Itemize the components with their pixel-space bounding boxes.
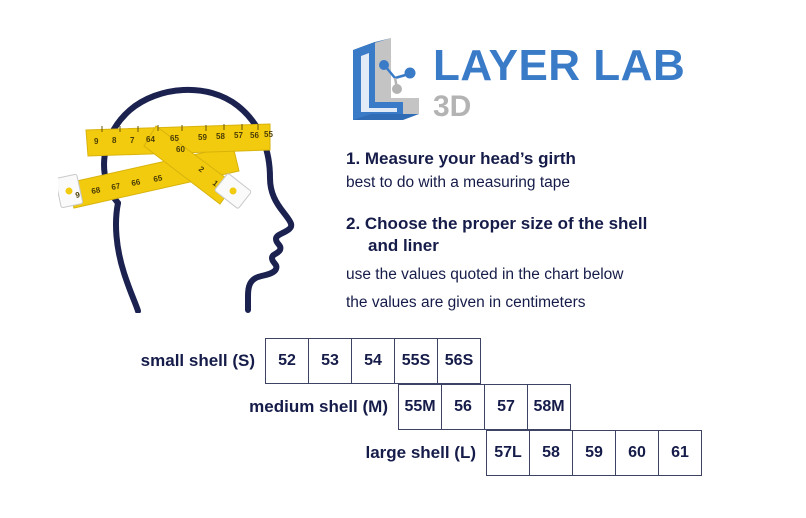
svg-text:58: 58 [216,132,225,141]
svg-text:59: 59 [198,133,207,142]
step-2-heading-line1: 2. Choose the proper size of the shell [346,214,647,233]
step-2-heading-line2: and liner [346,235,746,257]
step-1-heading: 1. Measure your head’s girth [346,148,746,170]
size-cell[interactable]: 52 [265,338,309,384]
svg-text:56: 56 [250,131,259,140]
size-cell[interactable]: 61 [658,430,702,476]
row-cells-large: 57L 58 59 60 61 [486,430,702,476]
size-cell[interactable]: 53 [308,338,352,384]
size-cell[interactable]: 57L [486,430,530,476]
size-cell[interactable]: 58M [527,384,571,430]
brand-suffix: 3D [433,92,685,122]
measuring-tape-icon: 9 8 7 64 65 60 59 58 57 56 55 9 68 67 66… [58,124,273,209]
row-label-large: large shell (L) [0,430,486,476]
size-cell[interactable]: 55M [398,384,442,430]
svg-text:64: 64 [146,135,155,144]
svg-text:55: 55 [264,130,273,139]
size-cell[interactable]: 58 [529,430,573,476]
size-cell[interactable]: 56 [441,384,485,430]
step-2-note-line1: use the values quoted in the chart below [346,265,746,285]
brand-logo: LAYER LAB 3D [345,36,645,126]
row-cells-medium: 55M 56 57 58M [398,384,571,430]
instruction-step-2: 2. Choose the proper size of the shell a… [346,213,746,313]
instruction-list: 1. Measure your head’s girth best to do … [346,148,746,327]
table-row-medium: medium shell (M) 55M 56 57 58M [0,384,571,430]
row-cells-small: 52 53 54 55S 56S [265,338,481,384]
size-cell[interactable]: 55S [394,338,438,384]
svg-text:60: 60 [176,145,185,154]
layered-l-beam-icon [345,36,423,122]
size-cell[interactable]: 56S [437,338,481,384]
instruction-step-1: 1. Measure your head’s girth best to do … [346,148,746,193]
row-label-small: small shell (S) [0,338,265,384]
step-2-note-line2: the values are given in centimeters [346,293,746,313]
svg-text:57: 57 [234,131,243,140]
head-measurement-illustration: 9 8 7 64 65 60 59 58 57 56 55 9 68 67 66… [58,58,328,313]
table-row-small: small shell (S) 52 53 54 55S 56S [0,338,481,384]
svg-text:9: 9 [94,137,99,146]
step-1-note: best to do with a measuring tape [346,173,746,193]
size-cell[interactable]: 54 [351,338,395,384]
size-cell[interactable]: 60 [615,430,659,476]
size-chart-table: small shell (S) 52 53 54 55S 56S medium … [0,330,806,490]
size-cell[interactable]: 59 [572,430,616,476]
head-profile-outline-icon [104,90,291,311]
row-label-medium: medium shell (M) [0,384,398,430]
svg-text:8: 8 [112,136,117,145]
size-cell[interactable]: 57 [484,384,528,430]
step-2-heading: 2. Choose the proper size of the shell a… [346,213,746,257]
svg-text:7: 7 [130,136,135,145]
svg-text:65: 65 [170,134,179,143]
brand-name: LAYER LAB [433,42,685,90]
table-row-large: large shell (L) 57L 58 59 60 61 [0,430,702,476]
